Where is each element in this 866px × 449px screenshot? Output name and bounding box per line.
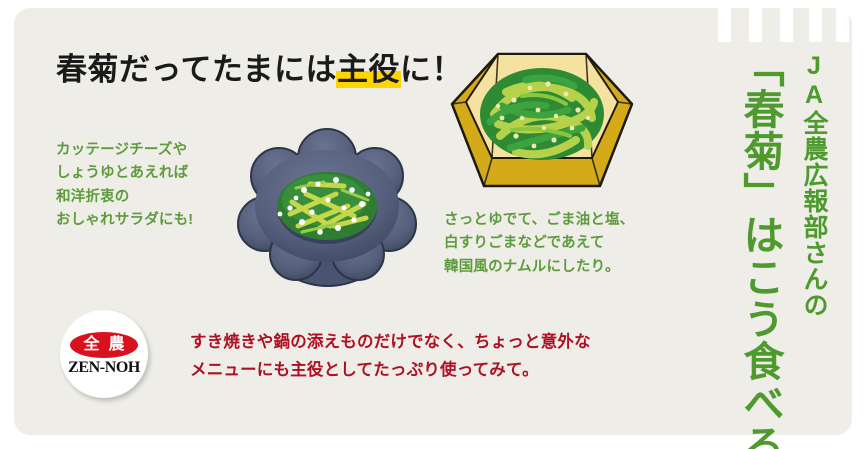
caption-namul: さっとゆでて、ごま油と塩、 白すりごまなどであえて 韓国風のナムルにしたり。 (444, 209, 634, 279)
panel-notch-2 (749, 8, 762, 42)
side-title-subline: JA全農広報部さんの (796, 46, 832, 318)
illustration-hexagon-bowl-namul (442, 18, 642, 210)
zennoh-logo: 全 農 ZEN-NOH (60, 310, 148, 398)
headline-highlight: 主役 (337, 44, 400, 89)
panel-notch-4 (809, 8, 822, 42)
panel-notch-5 (836, 8, 849, 42)
poster-canvas: 春菊だってたまには主役に！ カッテージチーズや しょうゆとあえれば 和洋折衷の … (0, 0, 866, 449)
zennoh-kanji-zen: 全 (83, 337, 99, 353)
headline-prefix: 春菊だってたまには (56, 52, 337, 87)
illustration-flower-bowl-salad (232, 128, 422, 300)
panel-notch-1 (718, 8, 731, 42)
zennoh-wordmark: ZEN-NOH (68, 360, 140, 376)
side-title-mainline: 「春菊」はこう食べる！ (730, 46, 790, 449)
page-title: 春菊だってたまには主役に！ (56, 44, 463, 89)
caption-closing: すき焼きや鍋の添えものだけでなく、ちょっと意外な メニューにも主役としてたっぷり… (190, 328, 591, 384)
zennoh-logo-ellipse: 全 農 (70, 332, 138, 358)
side-title: JA全農広報部さんの 「春菊」はこう食べる！ (730, 46, 832, 424)
zennoh-kanji-noh: 農 (109, 337, 125, 353)
caption-salad: カッテージチーズや しょうゆとあえれば 和洋折衷の おしゃれサラダにも! (56, 139, 193, 233)
panel-notch-3 (780, 8, 793, 42)
